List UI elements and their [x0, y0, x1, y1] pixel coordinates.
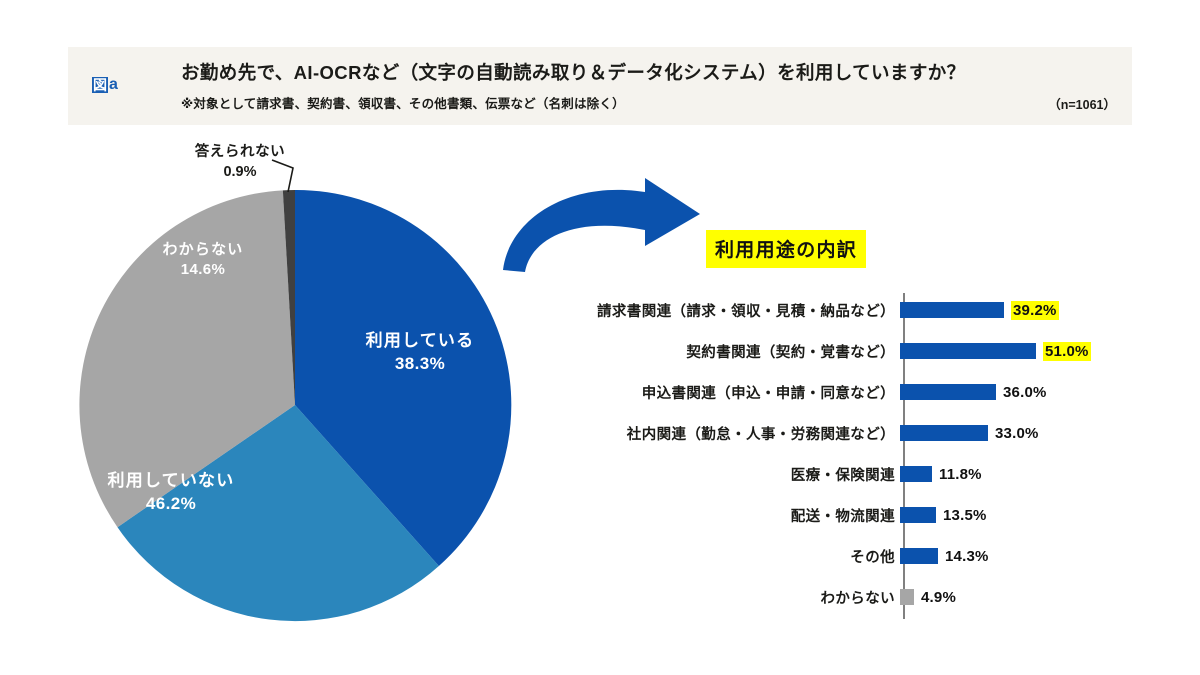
bar-row: 契約書関連（契約・覚書など） 51.0% — [560, 340, 1180, 362]
bar-fill — [900, 384, 996, 400]
header-band: 図a お勤め先で、AI-OCRなど（文字の自動読み取り＆データ化システム）を利用… — [68, 47, 1132, 125]
bar-row: 申込書関連（申込・申請・同意など） 36.0% — [560, 381, 1180, 403]
bar-fill — [900, 425, 988, 441]
bar-fill — [900, 507, 936, 523]
bar-category-label: 請求書関連（請求・領収・見積・納品など） — [560, 300, 900, 321]
bar-track: 51.0% — [900, 340, 1180, 362]
bar-category-label: 契約書関連（契約・覚書など） — [560, 341, 900, 362]
bar-track: 33.0% — [900, 422, 1180, 444]
pie-label-no-answer: 答えられない 0.9% — [160, 142, 320, 183]
bar-row: 配送・物流関連 13.5% — [560, 504, 1180, 526]
curved-arrow — [495, 172, 720, 277]
figure-tag: 図a — [92, 77, 118, 93]
bar-chart: 請求書関連（請求・領収・見積・納品など） 39.2% 契約書関連（契約・覚書など… — [560, 293, 1180, 623]
bar-value-label: 14.3% — [945, 548, 989, 565]
bar-fill — [900, 548, 938, 564]
pie-chart-svg — [0, 130, 560, 675]
bar-category-label: 申込書関連（申込・申請・同意など） — [560, 382, 900, 403]
figure-tag-box: 図 — [92, 77, 108, 93]
bar-row: わからない 4.9% — [560, 586, 1180, 608]
slide-root: 図a お勤め先で、AI-OCRなど（文字の自動読み取り＆データ化システム）を利用… — [0, 0, 1200, 675]
bar-row: 医療・保険関連 11.8% — [560, 463, 1180, 485]
bar-track: 36.0% — [900, 381, 1180, 403]
bar-category-label: わからない — [560, 587, 900, 608]
bar-row: その他 14.3% — [560, 545, 1180, 567]
bar-category-label: 医療・保険関連 — [560, 464, 900, 485]
bar-row: 社内関連（勤怠・人事・労務関連など） 33.0% — [560, 422, 1180, 444]
bar-fill — [900, 343, 1036, 359]
bar-value-label: 36.0% — [1003, 384, 1047, 401]
bar-track: 39.2% — [900, 299, 1180, 321]
bar-category-label: 配送・物流関連 — [560, 505, 900, 526]
bar-track: 13.5% — [900, 504, 1180, 526]
bar-value-label: 39.2% — [1011, 301, 1059, 320]
bar-value-label: 4.9% — [921, 589, 956, 606]
bar-fill — [900, 466, 932, 482]
pie-label-no-answer-value: 0.9% — [160, 162, 320, 182]
bar-fill — [900, 302, 1004, 318]
bar-value-label: 51.0% — [1043, 342, 1091, 361]
bar-value-label: 13.5% — [943, 507, 987, 524]
bar-value-label: 33.0% — [995, 425, 1039, 442]
bar-category-label: 社内関連（勤怠・人事・労務関連など） — [560, 423, 900, 444]
bar-category-label: その他 — [560, 546, 900, 567]
page-title: お勤め先で、AI-OCRなど（文字の自動読み取り＆データ化システム）を利用してい… — [181, 59, 966, 85]
sample-size-label: （n=1061） — [1048, 94, 1116, 113]
bar-track: 14.3% — [900, 545, 1180, 567]
breakdown-subtitle: 利用用途の内訳 — [706, 230, 866, 268]
bar-track: 4.9% — [900, 586, 1180, 608]
curved-arrow-shape — [503, 178, 700, 272]
curved-arrow-icon — [495, 172, 720, 277]
figure-tag-letter: a — [109, 77, 118, 93]
bar-track: 11.8% — [900, 463, 1180, 485]
page-subtitle: ※対象として請求書、契約書、領収書、その他書類、伝票など（名刺は除く） — [181, 93, 625, 112]
bar-fill — [900, 589, 914, 605]
pie-chart: 答えられない 0.9% わからない 14.6% 利用している 38.3% 利用し… — [0, 130, 560, 675]
pie-label-no-answer-name: 答えられない — [160, 142, 320, 162]
bar-row: 請求書関連（請求・領収・見積・納品など） 39.2% — [560, 299, 1180, 321]
bar-value-label: 11.8% — [939, 466, 982, 483]
